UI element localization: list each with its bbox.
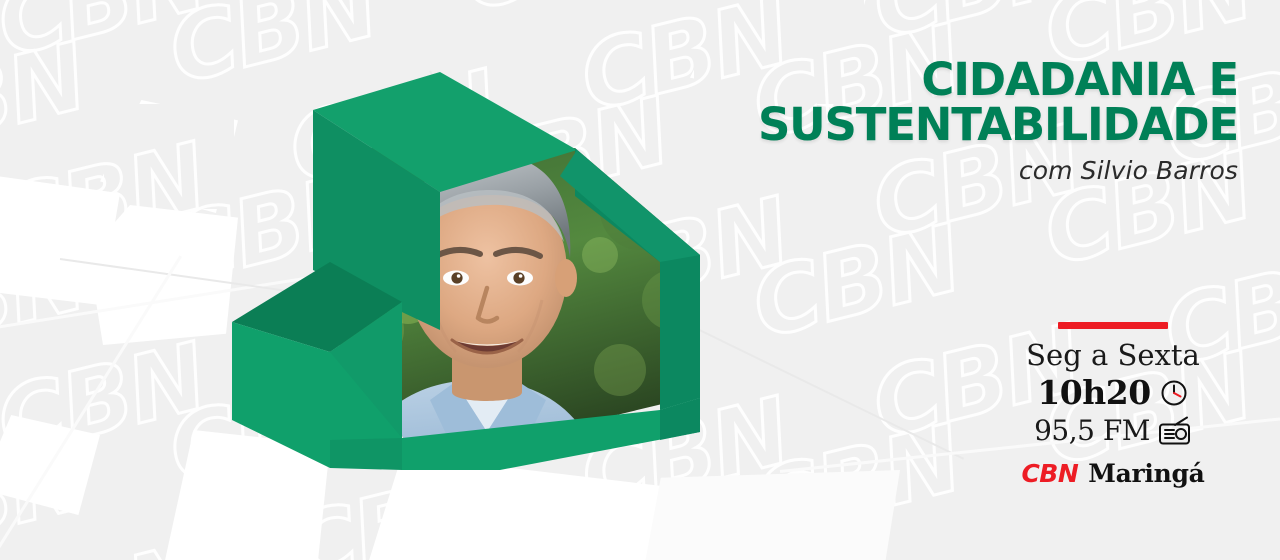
broadcast-time: 10h20 [1037,373,1150,412]
cbn-brand-text: CBN [1021,459,1078,488]
cbn-watermark-text: CBN [161,358,386,498]
cbn-watermark-text: CBN [0,31,94,171]
cbn-watermark-text: CBN [572,185,797,325]
cbn-watermark-text: CBN [281,458,506,560]
station-city-text: Maringá [1088,459,1204,488]
decorative-line [0,264,385,333]
schedule-info-block: Seg a Sexta 10h20 95,5 FM [988,322,1238,488]
cbn-watermark-text: CBN [281,58,506,198]
radio-icon [1158,416,1192,446]
cbn-watermark-text: CBN [0,131,214,271]
station-logo: CBN Maringá [988,459,1238,488]
program-title-block: CIDADANIA E SUSTENTABILIDADE com Silvio … [678,58,1238,185]
white-polygon [0,415,100,515]
cbn-watermark-text: CBN [0,331,214,471]
broadcast-time-row: 10h20 [988,373,1238,412]
emblem-facets [232,72,700,470]
red-divider [1058,322,1168,329]
cbn-program-banner: CBNCBNCBNCBNCBNCBNCBNCBNCBNCBNCBNCBNCBNC… [0,0,1280,560]
cbn-watermark-text: CBN [0,531,214,560]
broadcast-days: Seg a Sexta [988,339,1238,371]
white-polygon [360,455,660,560]
cbn-watermark-text: CBN [864,0,1089,52]
cbn-watermark-text: CBN [452,485,677,560]
cbn-watermark-text: CBN [0,231,94,371]
decorative-line [60,258,357,302]
cbn-watermark-text: CBN [452,85,677,225]
program-title-line2: SUSTENTABILIDADE [678,103,1238,146]
cbn-watermark-text: CBN [744,413,969,553]
clock-icon [1159,378,1189,408]
program-title-line1: CIDADANIA E [678,58,1238,101]
white-polygon [640,470,900,560]
white-polygon [0,175,120,305]
cbn-watermark-text: CBN [281,258,506,398]
radio-frequency: 95,5 FM [1034,414,1150,447]
decorative-line [640,300,964,460]
white-polygon [155,430,330,560]
decorative-line [429,71,543,284]
program-host-subtitle: com Silvio Barros [678,156,1238,185]
white-polygon [88,205,238,345]
host-portrait [320,140,720,500]
cbn-watermark-text: CBN [161,0,386,98]
cbn-watermark-text: CBN [161,158,386,298]
cbn-watermark-text: CBN [452,0,677,25]
white-polygon [100,100,238,213]
cbn-watermark-text: CBN [744,213,969,353]
decorative-line [0,255,182,560]
cbn-watermark-text: CBN [0,0,214,71]
cbn-watermark-text: CBN [0,431,94,560]
cbn-watermark-text: CBN [452,285,677,425]
cbn-watermark-text: CBN [572,385,797,525]
frequency-row: 95,5 FM [988,414,1238,447]
